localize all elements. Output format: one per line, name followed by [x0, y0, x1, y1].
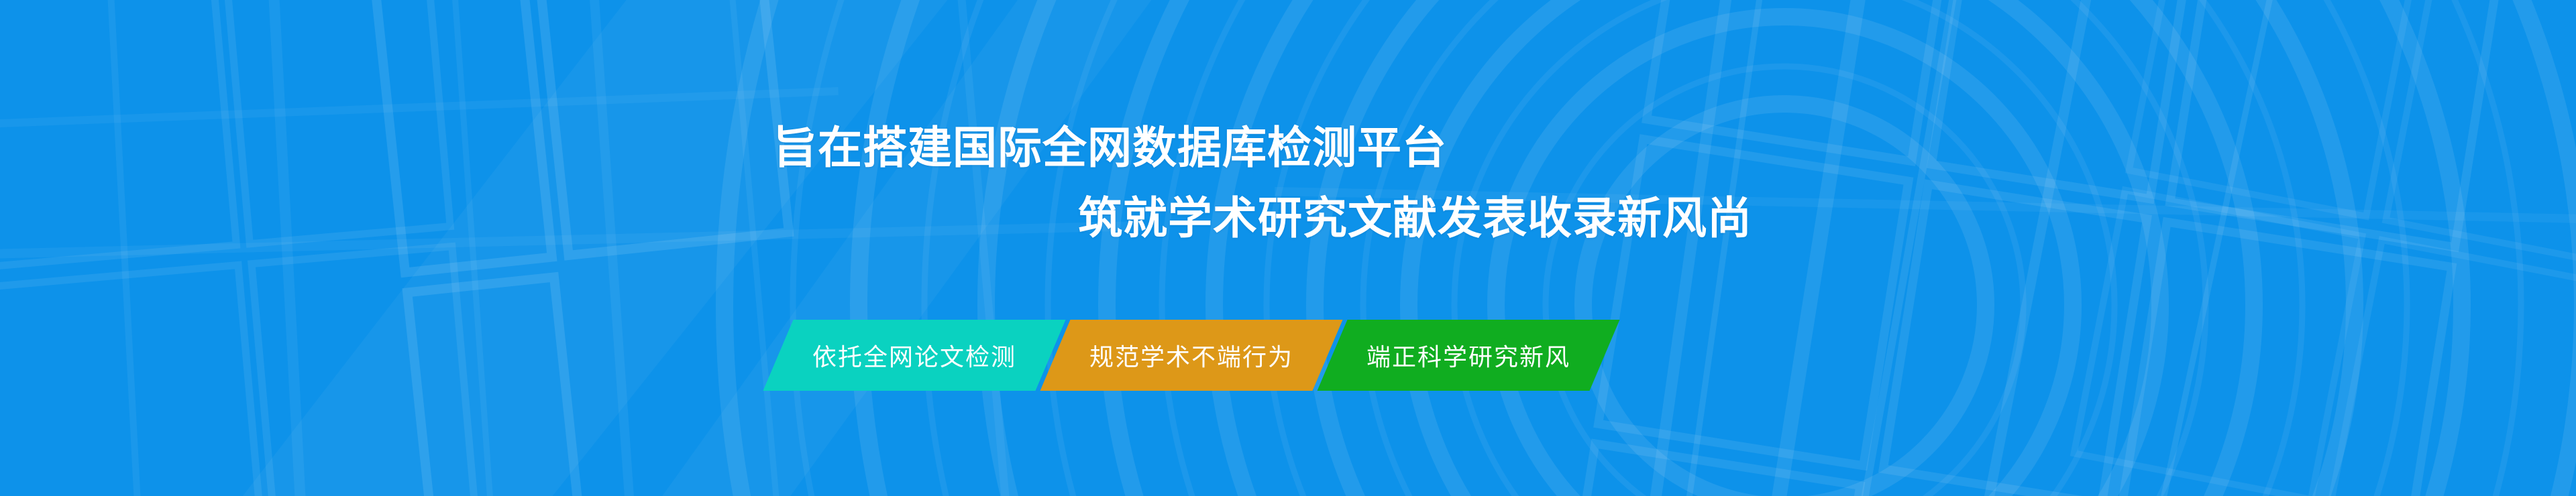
feature-tag-label: 依托全网论文检测: [808, 338, 1020, 373]
feature-tag-academic-misconduct[interactable]: 规范学术不端行为: [1040, 320, 1343, 391]
feature-tag-strip: 依托全网论文检测 规范学术不端行为 端正科学研究新风: [778, 320, 1605, 391]
feature-tag-label: 规范学术不端行为: [1085, 338, 1297, 373]
feature-tag-label: 端正科学研究新风: [1362, 338, 1574, 373]
headline-block: 旨在搭建国际全网数据库检测平台 筑就学术研究文献发表收录新风尚: [0, 113, 2576, 253]
hero-banner: 旨在搭建国际全网数据库检测平台 筑就学术研究文献发表收录新风尚 依托全网论文检测…: [0, 0, 2576, 496]
feature-tag-research-integrity[interactable]: 端正科学研究新风: [1318, 320, 1620, 391]
headline-line-1: 旨在搭建国际全网数据库检测平台: [773, 113, 2576, 183]
feature-tag-plagiarism-detection[interactable]: 依托全网论文检测: [763, 320, 1066, 391]
headline-line-2: 筑就学术研究文献发表收录新风尚: [1078, 183, 2576, 253]
